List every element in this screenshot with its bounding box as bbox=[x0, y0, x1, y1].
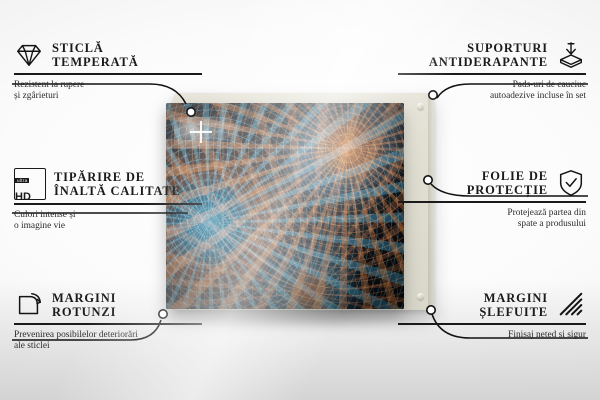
feature-polished-edges: MARGINI ȘLEFUITE Finisaj neted și sigur bbox=[398, 290, 586, 341]
ultra-hd-icon: ultra HD bbox=[14, 168, 46, 200]
feature-desc-line2: și zgârieturi bbox=[14, 91, 202, 103]
ultra-hd-badge-bottom: HD bbox=[15, 191, 31, 203]
feature-desc-line1: Protejează partea din bbox=[398, 208, 586, 220]
feature-desc-line2: autoadezive incluse în set bbox=[398, 91, 586, 103]
feature-rule bbox=[14, 203, 202, 205]
feature-desc-line1: Culori intense și bbox=[14, 210, 202, 222]
feature-title-line1: FOLIE DE bbox=[467, 169, 548, 183]
feature-rule bbox=[398, 73, 586, 75]
feature-title-line2: ROTUNZI bbox=[52, 305, 116, 319]
feature-title-line1: MARGINI bbox=[479, 291, 548, 305]
infographic-canvas: STICLĂ TEMPERATĂ Rezistent la rupere și … bbox=[0, 0, 600, 400]
feature-protective-film: FOLIE DE PROTECȚIE Protejează partea din… bbox=[398, 168, 586, 231]
hatch-lines-icon bbox=[556, 290, 586, 320]
feature-anti-slip-supports: SUPORTURI ANTIDERAPANTE Pads-uri de cauc… bbox=[398, 40, 586, 103]
feature-desc-line1: Prevenirea posibilelor deteriorări bbox=[14, 330, 202, 342]
feature-desc-line1: Pads-uri de cauciuc bbox=[398, 80, 586, 92]
shield-check-icon bbox=[556, 168, 586, 198]
feature-title-line2: ȘLEFUITE bbox=[479, 305, 548, 319]
feature-title-line2: ANTIDERAPANTE bbox=[429, 55, 548, 69]
feature-desc-line1: Rezistent la rupere bbox=[14, 80, 202, 92]
ultra-hd-badge-top: ultra bbox=[15, 178, 29, 183]
feature-title-line1: STICLĂ bbox=[52, 41, 139, 55]
feature-title-line2: TEMPERATĂ bbox=[52, 55, 139, 69]
product-image bbox=[166, 93, 434, 315]
feature-tempered-glass: STICLĂ TEMPERATĂ Rezistent la rupere și … bbox=[14, 40, 202, 103]
standoff-screw-top-right bbox=[417, 103, 424, 110]
feature-title-line2: ÎNALTĂ CALITATE bbox=[54, 184, 181, 198]
feature-rule bbox=[398, 323, 586, 325]
feature-title-line2: PROTECȚIE bbox=[467, 183, 548, 197]
feature-high-quality-print: ultra HD TIPĂRIRE DE ÎNALTĂ CALITATE Cul… bbox=[14, 168, 202, 233]
feature-desc-line2: ale sticlei bbox=[14, 341, 202, 353]
feature-desc-line2: spate a produsului bbox=[398, 219, 586, 231]
feature-rule bbox=[14, 73, 202, 75]
feature-title-line1: SUPORTURI bbox=[429, 41, 548, 55]
feature-rule bbox=[14, 323, 202, 325]
diamond-icon bbox=[14, 40, 44, 70]
feature-rule bbox=[398, 201, 586, 203]
feature-rounded-edges: MARGINI ROTUNZI Prevenirea posibilelor d… bbox=[14, 290, 202, 353]
feature-desc-line1: Finisaj neted și sigur bbox=[398, 330, 586, 342]
feature-desc-line2: o imagine vie bbox=[14, 221, 202, 233]
rounded-corner-icon bbox=[14, 290, 44, 320]
feature-title-line1: MARGINI bbox=[52, 291, 116, 305]
feature-title-line1: TIPĂRIRE DE bbox=[54, 170, 181, 184]
press-pad-icon bbox=[556, 40, 586, 70]
